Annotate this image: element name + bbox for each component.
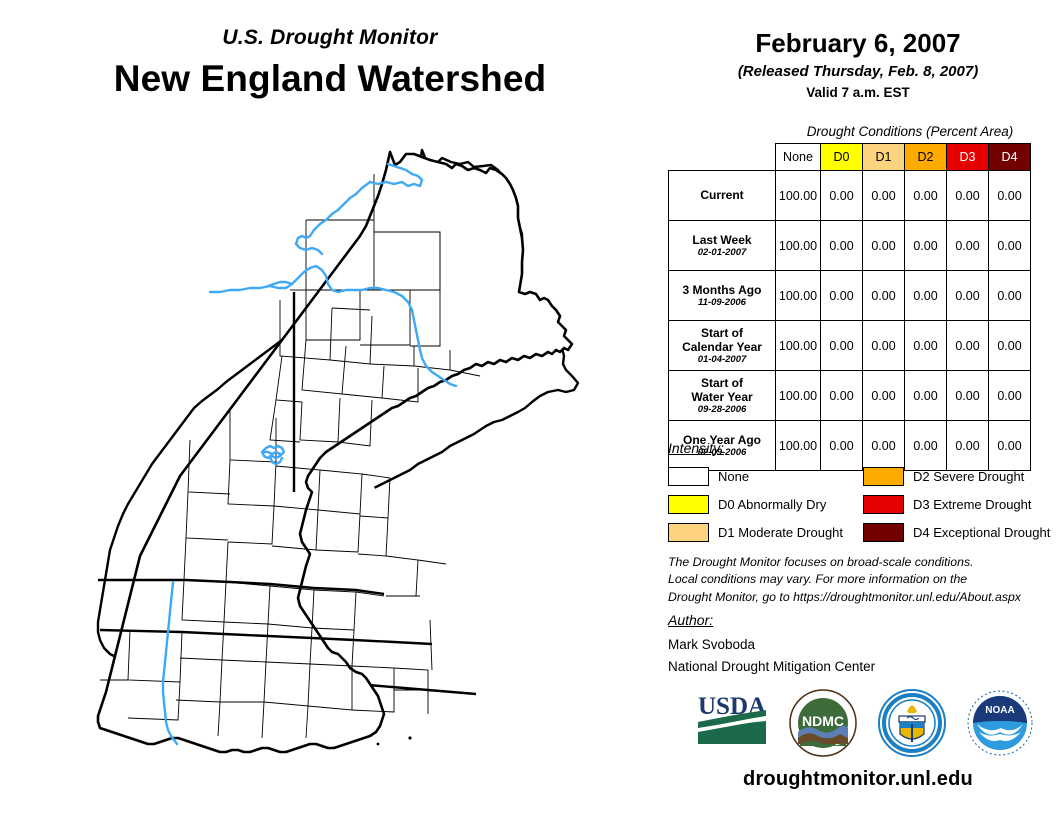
legend-column-left: None D0 Abnormally Dry D1 Moderate Droug… (668, 462, 843, 546)
cell-water-none: 100.00 (776, 371, 821, 421)
drought-conditions-table: None D0 D1 D2 D3 D4 Current 100.00 0.00 … (668, 143, 1031, 471)
row-label-start-water-year: Start of Water Year 09-28-2006 (669, 371, 776, 421)
kicker-title: U.S. Drought Monitor (0, 26, 660, 50)
release-date: (Released Thursday, Feb. 8, 2007) (660, 63, 1056, 80)
table-header-row: None D0 D1 D2 D3 D4 (669, 144, 1031, 171)
row-label-text: Start of Calendar Year (672, 326, 772, 354)
swatch-d3 (863, 495, 904, 514)
logo-row: USDA NDMC (660, 688, 1056, 766)
cell-water-d4: 0.00 (989, 371, 1031, 421)
noaa-logo-text: NOAA (985, 705, 1014, 716)
legend-item-d1: D1 Moderate Drought (668, 518, 843, 546)
cell-cal-d1: 0.00 (863, 321, 905, 371)
row-label-date: 11-09-2006 (672, 297, 772, 308)
disclaimer-note: The Drought Monitor focuses on broad-sca… (668, 554, 1056, 606)
legend-item-none: None (668, 462, 843, 490)
row-label-text: 3 Months Ago (672, 283, 772, 297)
cell-3mo-d4: 0.00 (989, 271, 1031, 321)
table-body: Current 100.00 0.00 0.00 0.00 0.00 0.00 … (669, 171, 1031, 471)
legend-item-d2: D2 Severe Drought (863, 462, 1050, 490)
cell-cal-d0: 0.00 (821, 321, 863, 371)
author-name: Mark Svoboda (668, 634, 875, 656)
legend-label: None (718, 469, 749, 484)
cell-current-d2: 0.00 (905, 171, 947, 221)
ndmc-logo-text: NDMC (802, 713, 844, 729)
author-block: Mark Svoboda National Drought Mitigation… (668, 634, 875, 677)
table-caption: Drought Conditions (Percent Area) (765, 124, 1055, 139)
row-label-date: 02-01-2007 (672, 247, 772, 258)
table-corner-cell (669, 144, 776, 171)
cell-cal-d4: 0.00 (989, 321, 1031, 371)
legend-item-d4: D4 Exceptional Drought (863, 518, 1050, 546)
table-row: Last Week 02-01-2007 100.00 0.00 0.00 0.… (669, 221, 1031, 271)
swatch-d4 (863, 523, 904, 542)
intensity-label: Intensity: (668, 440, 724, 456)
column-header-d3: D3 (947, 144, 989, 171)
row-label-text: Current (672, 188, 772, 202)
cell-3mo-d1: 0.00 (863, 271, 905, 321)
cell-last-week-d0: 0.00 (821, 221, 863, 271)
site-url[interactable]: droughtmonitor.unl.edu (660, 768, 1056, 791)
cell-3mo-d3: 0.00 (947, 271, 989, 321)
usda-logo[interactable]: USDA (696, 688, 768, 748)
row-label-date: 01-04-2007 (672, 354, 772, 365)
author-label: Author: (668, 612, 713, 628)
cell-water-d1: 0.00 (863, 371, 905, 421)
legend-item-d0: D0 Abnormally Dry (668, 490, 843, 518)
cell-current-d4: 0.00 (989, 171, 1031, 221)
legend-label: D0 Abnormally Dry (718, 497, 826, 512)
new-england-watershed-map-svg (70, 140, 610, 790)
cell-3mo-none: 100.00 (776, 271, 821, 321)
cell-cal-d3: 0.00 (947, 321, 989, 371)
legend-column-right: D2 Severe Drought D3 Extreme Drought D4 … (863, 462, 1050, 546)
row-label-text: Last Week (672, 233, 772, 247)
map-date: February 6, 2007 (660, 28, 1056, 59)
drought-map[interactable] (70, 140, 610, 790)
cell-last-week-none: 100.00 (776, 221, 821, 271)
cell-cal-none: 100.00 (776, 321, 821, 371)
cell-water-d3: 0.00 (947, 371, 989, 421)
department-of-commerce-seal[interactable] (877, 688, 947, 758)
cell-water-d0: 0.00 (821, 371, 863, 421)
cell-last-week-d4: 0.00 (989, 221, 1031, 271)
legend-label: D3 Extreme Drought (913, 497, 1032, 512)
cell-3mo-d0: 0.00 (821, 271, 863, 321)
row-label-current: Current (669, 171, 776, 221)
table-row: Start of Water Year 09-28-2006 100.00 0.… (669, 371, 1031, 421)
date-block: February 6, 2007 (Released Thursday, Feb… (660, 28, 1056, 100)
swatch-d1 (668, 523, 709, 542)
title-block: U.S. Drought Monitor New England Watersh… (0, 26, 660, 100)
map-panel: U.S. Drought Monitor New England Watersh… (0, 0, 660, 816)
column-header-d4: D4 (989, 144, 1031, 171)
swatch-d0 (668, 495, 709, 514)
cell-cal-d2: 0.00 (905, 321, 947, 371)
column-header-d2: D2 (905, 144, 947, 171)
cell-3mo-d2: 0.00 (905, 271, 947, 321)
row-label-date: 09-28-2006 (672, 404, 772, 415)
info-panel: February 6, 2007 (Released Thursday, Feb… (660, 0, 1056, 816)
legend-label: D1 Moderate Drought (718, 525, 843, 540)
table-row: Current 100.00 0.00 0.00 0.00 0.00 0.00 (669, 171, 1031, 221)
note-line-1: The Drought Monitor focuses on broad-sca… (668, 554, 1056, 571)
author-org: National Drought Mitigation Center (668, 656, 875, 678)
legend-item-d3: D3 Extreme Drought (863, 490, 1050, 518)
cell-current-d0: 0.00 (821, 171, 863, 221)
noaa-logo[interactable]: NOAA (965, 688, 1035, 758)
cell-last-week-d3: 0.00 (947, 221, 989, 271)
cell-current-d3: 0.00 (947, 171, 989, 221)
note-line-2: Local conditions may vary. For more info… (668, 571, 1056, 588)
row-label-text: Start of Water Year (672, 376, 772, 404)
row-label-start-calendar-year: Start of Calendar Year 01-04-2007 (669, 321, 776, 371)
table-row: 3 Months Ago 11-09-2006 100.00 0.00 0.00… (669, 271, 1031, 321)
row-label-last-week: Last Week 02-01-2007 (669, 221, 776, 271)
swatch-d2 (863, 467, 904, 486)
row-label-3-months-ago: 3 Months Ago 11-09-2006 (669, 271, 776, 321)
table-row: Start of Calendar Year 01-04-2007 100.00… (669, 321, 1031, 371)
cell-water-d2: 0.00 (905, 371, 947, 421)
ndmc-logo[interactable]: NDMC (788, 688, 858, 758)
cell-current-d1: 0.00 (863, 171, 905, 221)
note-line-3: Drought Monitor, go to https://droughtmo… (668, 589, 1056, 606)
legend-label: D2 Severe Drought (913, 469, 1024, 484)
cell-last-week-d1: 0.00 (863, 221, 905, 271)
column-header-none: None (776, 144, 821, 171)
swatch-none (668, 467, 709, 486)
column-header-d1: D1 (863, 144, 905, 171)
cell-current-none: 100.00 (776, 171, 821, 221)
column-header-d0: D0 (821, 144, 863, 171)
page-title: New England Watershed (0, 58, 660, 100)
valid-time: Valid 7 a.m. EST (660, 85, 1056, 100)
cell-last-week-d2: 0.00 (905, 221, 947, 271)
legend-label: D4 Exceptional Drought (913, 525, 1050, 540)
